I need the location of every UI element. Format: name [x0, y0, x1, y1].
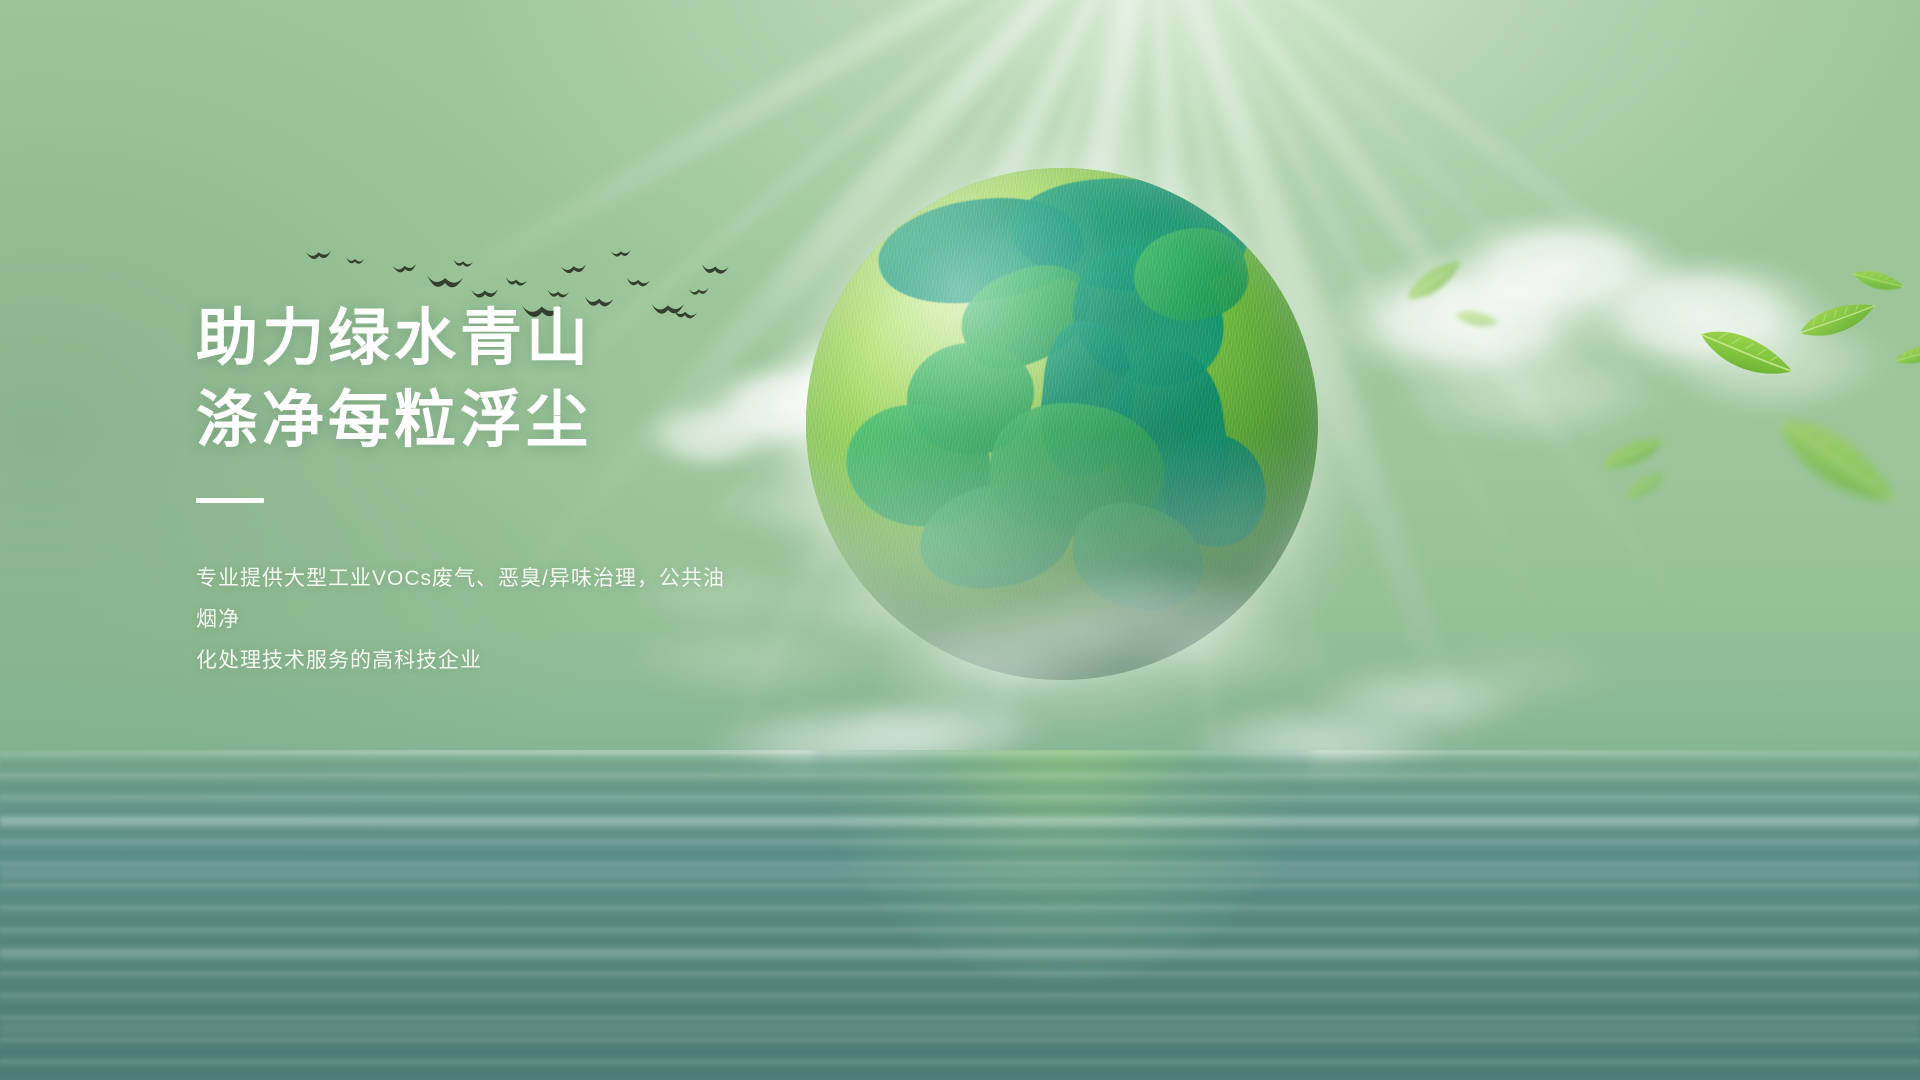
bird-icon: [624, 275, 651, 292]
water-highlight-band: [0, 946, 1920, 964]
bird-icon: [304, 247, 333, 265]
description-line-2: 化处理技术服务的高科技企业: [196, 641, 736, 682]
page-title: 助力绿水青山 涤净每粒浮尘: [196, 298, 896, 462]
bird-icon: [345, 255, 366, 267]
bird-icon: [451, 257, 474, 271]
water-highlight-band: [0, 814, 1920, 830]
bird-icon: [425, 271, 466, 294]
water-highlight-band: [0, 1022, 1920, 1036]
hero-copy-block: 助力绿水青山 涤净每粒浮尘 专业提供大型工业VOCs废气、恶臭/异味治理，公共油…: [196, 298, 896, 702]
water-surface: [0, 750, 1920, 1080]
bird-icon: [610, 247, 633, 261]
description-line-1: 专业提供大型工业VOCs废气、恶臭/异味治理，公共油烟净: [196, 559, 736, 641]
bird-icon: [699, 261, 730, 280]
hero-banner: 助力绿水青山 涤净每粒浮尘 专业提供大型工业VOCs废气、恶臭/异味治理，公共油…: [0, 0, 1920, 1080]
water-highlight-band: [0, 868, 1920, 880]
headline-line-2: 涤净每粒浮尘: [196, 380, 896, 462]
hero-description: 专业提供大型工业VOCs废气、恶臭/异味治理，公共油烟净 化处理技术服务的高科技…: [196, 559, 736, 682]
title-divider: [196, 498, 264, 503]
headline-line-1: 助力绿水青山: [196, 298, 896, 380]
